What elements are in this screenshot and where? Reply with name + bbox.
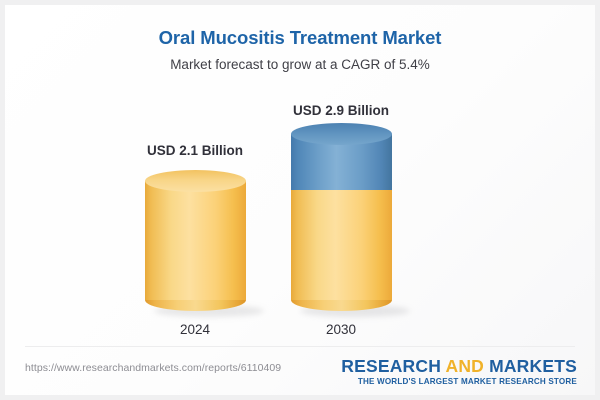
footer-divider (25, 346, 575, 347)
frame-edge-bottom (0, 395, 600, 400)
infographic-card: Oral Mucositis Treatment Market Market f… (5, 5, 595, 395)
data-label-2024: USD 2.1 Billion (120, 143, 270, 158)
cylinder-2024 (145, 170, 246, 311)
data-label-2030: USD 2.9 Billion (266, 103, 416, 118)
brand-logo[interactable]: RESEARCH AND MARKETS THE WORLD'S LARGEST… (341, 357, 577, 386)
cylinder-bar-chart: USD 2.1 Billion 2024 USD 2.9 Billion 203… (5, 5, 595, 345)
brand-word-and: AND (445, 356, 484, 376)
brand-tagline: THE WORLD'S LARGEST MARKET RESEARCH STOR… (341, 377, 577, 386)
category-label-2030: 2030 (266, 322, 416, 337)
cylinder-2030 (291, 123, 392, 311)
brand-word-research: RESEARCH (341, 356, 441, 376)
bar-group-2030: USD 2.9 Billion 2030 (266, 110, 416, 340)
frame-edge-right (595, 0, 600, 400)
cylinder-body-base-2024 (145, 181, 246, 300)
cylinder-body-base-2030 (291, 188, 392, 300)
cylinder-top-ellipse-2030 (291, 123, 392, 145)
category-label-2024: 2024 (120, 322, 270, 337)
cylinder-top-ellipse-2024 (145, 170, 246, 192)
brand-logo-wordmark: RESEARCH AND MARKETS (341, 357, 577, 375)
brand-word-markets: MARKETS (489, 356, 577, 376)
bar-group-2024: USD 2.1 Billion 2024 (120, 110, 270, 340)
report-url[interactable]: https://www.researchandmarkets.com/repor… (25, 362, 281, 374)
